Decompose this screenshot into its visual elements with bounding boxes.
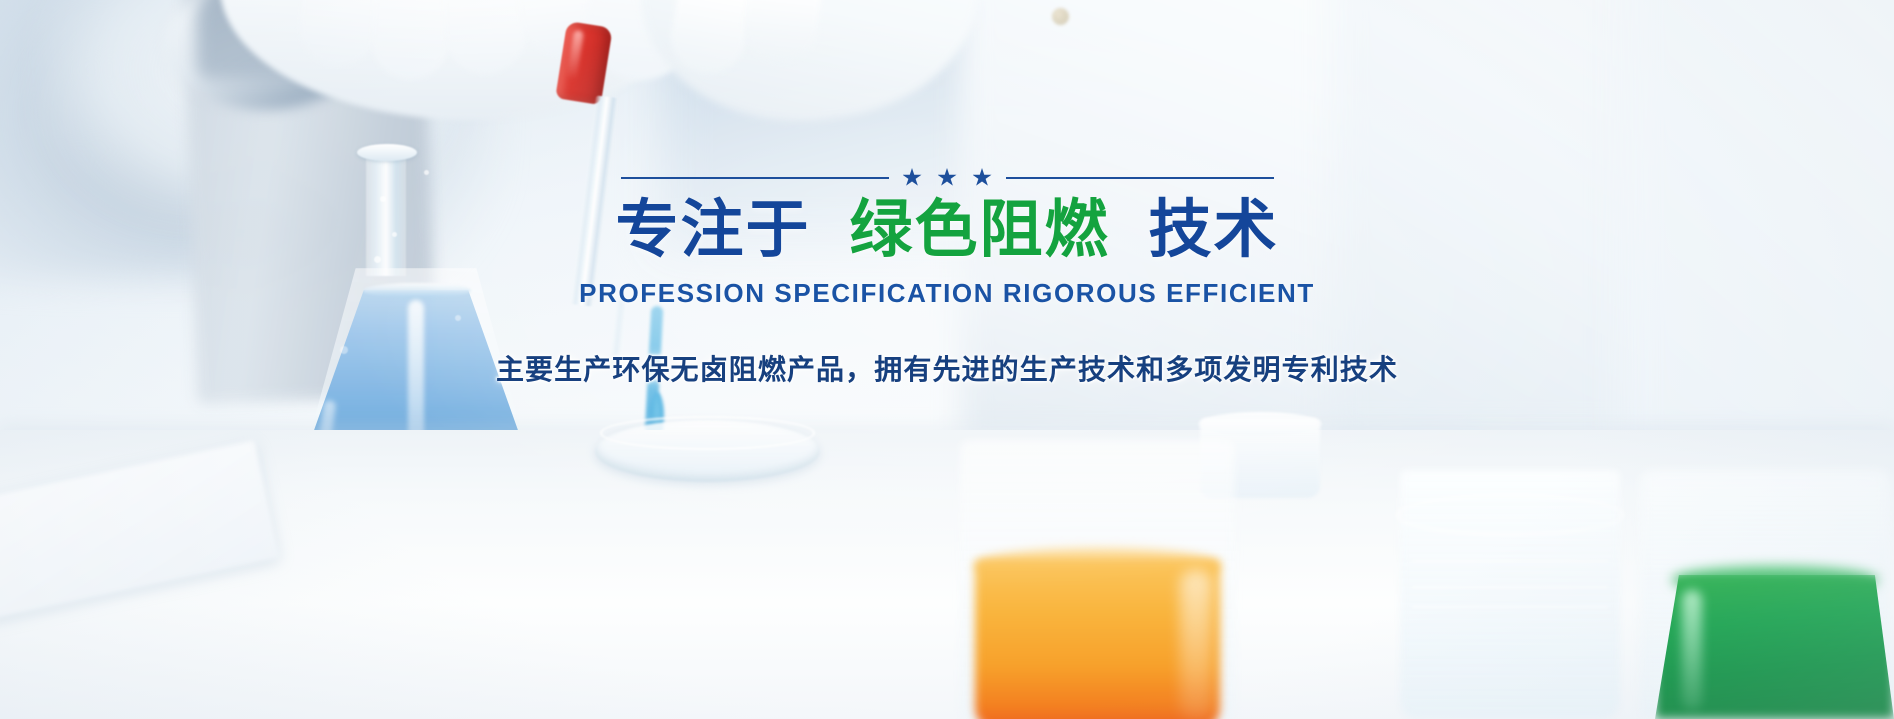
star-icon (938, 168, 957, 187)
hero-banner: 专注于 绿色阻燃 技术 PROFESSION SPECIFICATION RIG… (0, 0, 1894, 719)
star-icon (973, 168, 992, 187)
headline-part-primary-2: 技术 (1149, 195, 1279, 265)
divider-line-left (621, 177, 889, 179)
star-group (903, 168, 992, 187)
subtitle-chinese: 主要生产环保无卤阻燃产品，拥有先进的生产技术和多项发明专利技术 (496, 348, 1398, 388)
star-icon (903, 168, 922, 187)
divider-line-right (1006, 177, 1274, 179)
banner-content: 专注于 绿色阻燃 技术 PROFESSION SPECIFICATION RIG… (0, 0, 1894, 719)
headline-part-accent: 绿色阻燃 (850, 195, 1110, 265)
headline-part-primary: 专注于 (615, 195, 810, 265)
page-title: 专注于 绿色阻燃 技术 (615, 195, 1278, 266)
decorative-divider (621, 168, 1274, 187)
subtitle-english: PROFESSION SPECIFICATION RIGOROUS EFFICI… (579, 278, 1315, 309)
